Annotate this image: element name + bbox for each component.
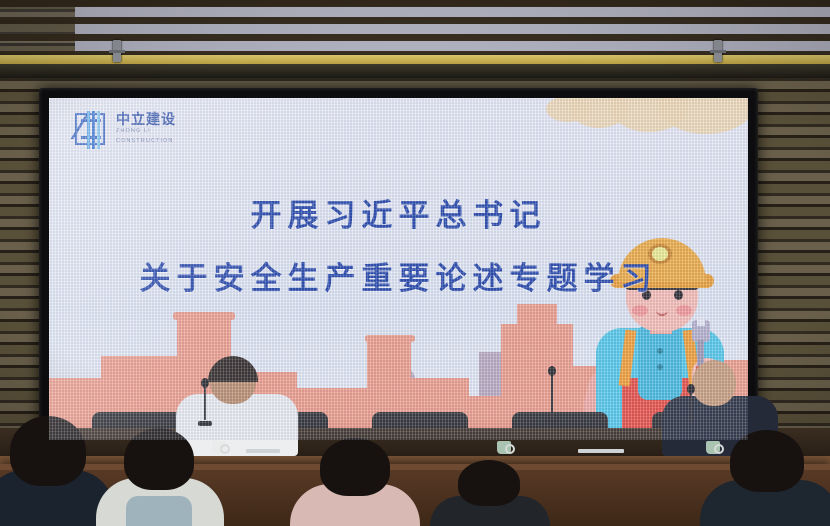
audience-member-5 [700, 446, 830, 526]
microphone-base-1 [198, 421, 212, 426]
paper-2 [246, 449, 280, 453]
cup-2 [497, 441, 511, 454]
audience-member-4 [430, 476, 550, 526]
conference-room-photo: 中立建设 ZHONG LI CONSTRUCTION 开展习近平总书记 关于安全… [0, 0, 830, 526]
logo-pinyin-line2: CONSTRUCTION [116, 138, 176, 146]
microphone-1 [204, 386, 206, 420]
microphone-3 [690, 392, 692, 422]
audience-member-2 [96, 440, 224, 526]
paper-1 [578, 449, 624, 453]
logo-mark-icon [75, 111, 109, 147]
logo-chinese-name: 中立建设 [116, 112, 176, 126]
slide-logo: 中立建设 ZHONG LI CONSTRUCTION [75, 111, 176, 147]
microphone-base-2 [545, 419, 559, 424]
slide-title-line1: 开展习近平总书记 [49, 190, 748, 235]
slide-title-line2: 关于安全生产重要论述专题学习 [49, 253, 748, 298]
slide-title-block: 开展习近平总书记 关于安全生产重要论述专题学习 [49, 190, 748, 298]
logo-pinyin-line1: ZHONG LI [116, 128, 176, 136]
audience-member-3 [290, 452, 420, 526]
microphone-2 [551, 374, 553, 418]
